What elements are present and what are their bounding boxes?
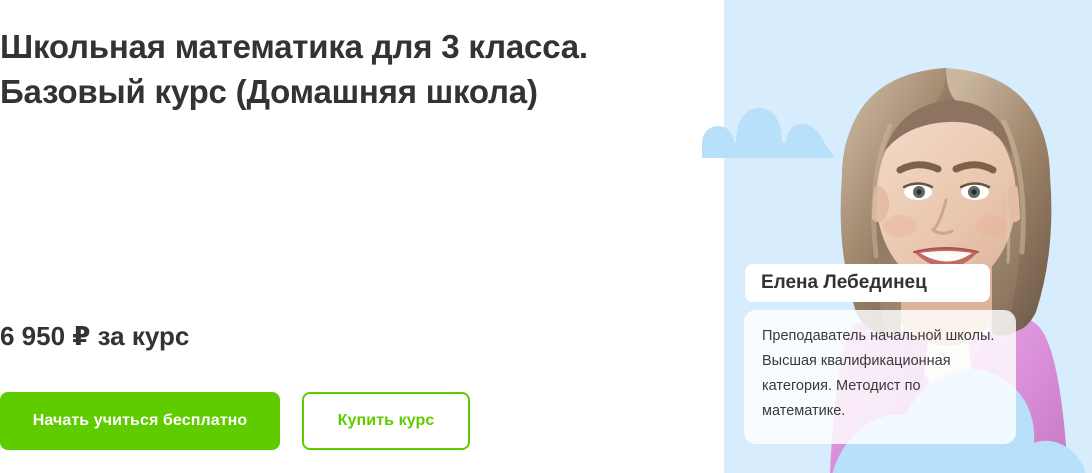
course-title-line-2: Базовый курс (Домашняя школа) — [0, 69, 660, 114]
teacher-hero-panel: Елена Лебединец Преподаватель начальной … — [724, 0, 1092, 473]
teacher-bio-text: Преподаватель начальной школы. Высшая кв… — [762, 324, 998, 424]
course-info-column: Школьная математика для 3 класса. Базовы… — [0, 0, 700, 473]
start-free-button[interactable]: Начать учиться бесплатно — [0, 392, 280, 450]
teacher-name-badge: Елена Лебединец — [745, 264, 990, 302]
teacher-bio-card: Преподаватель начальной школы. Высшая кв… — [744, 310, 1016, 444]
course-hero-banner: Школьная математика для 3 класса. Базовы… — [0, 0, 1092, 473]
page-title: Школьная математика для 3 класса. Базовы… — [0, 24, 660, 114]
course-price: 6 950 ₽ за курс — [0, 320, 189, 352]
course-title-line-1: Школьная математика для 3 класса. — [0, 24, 660, 69]
cta-button-group: Начать учиться бесплатно Купить курс — [0, 392, 470, 450]
buy-course-button[interactable]: Купить курс — [302, 392, 470, 450]
